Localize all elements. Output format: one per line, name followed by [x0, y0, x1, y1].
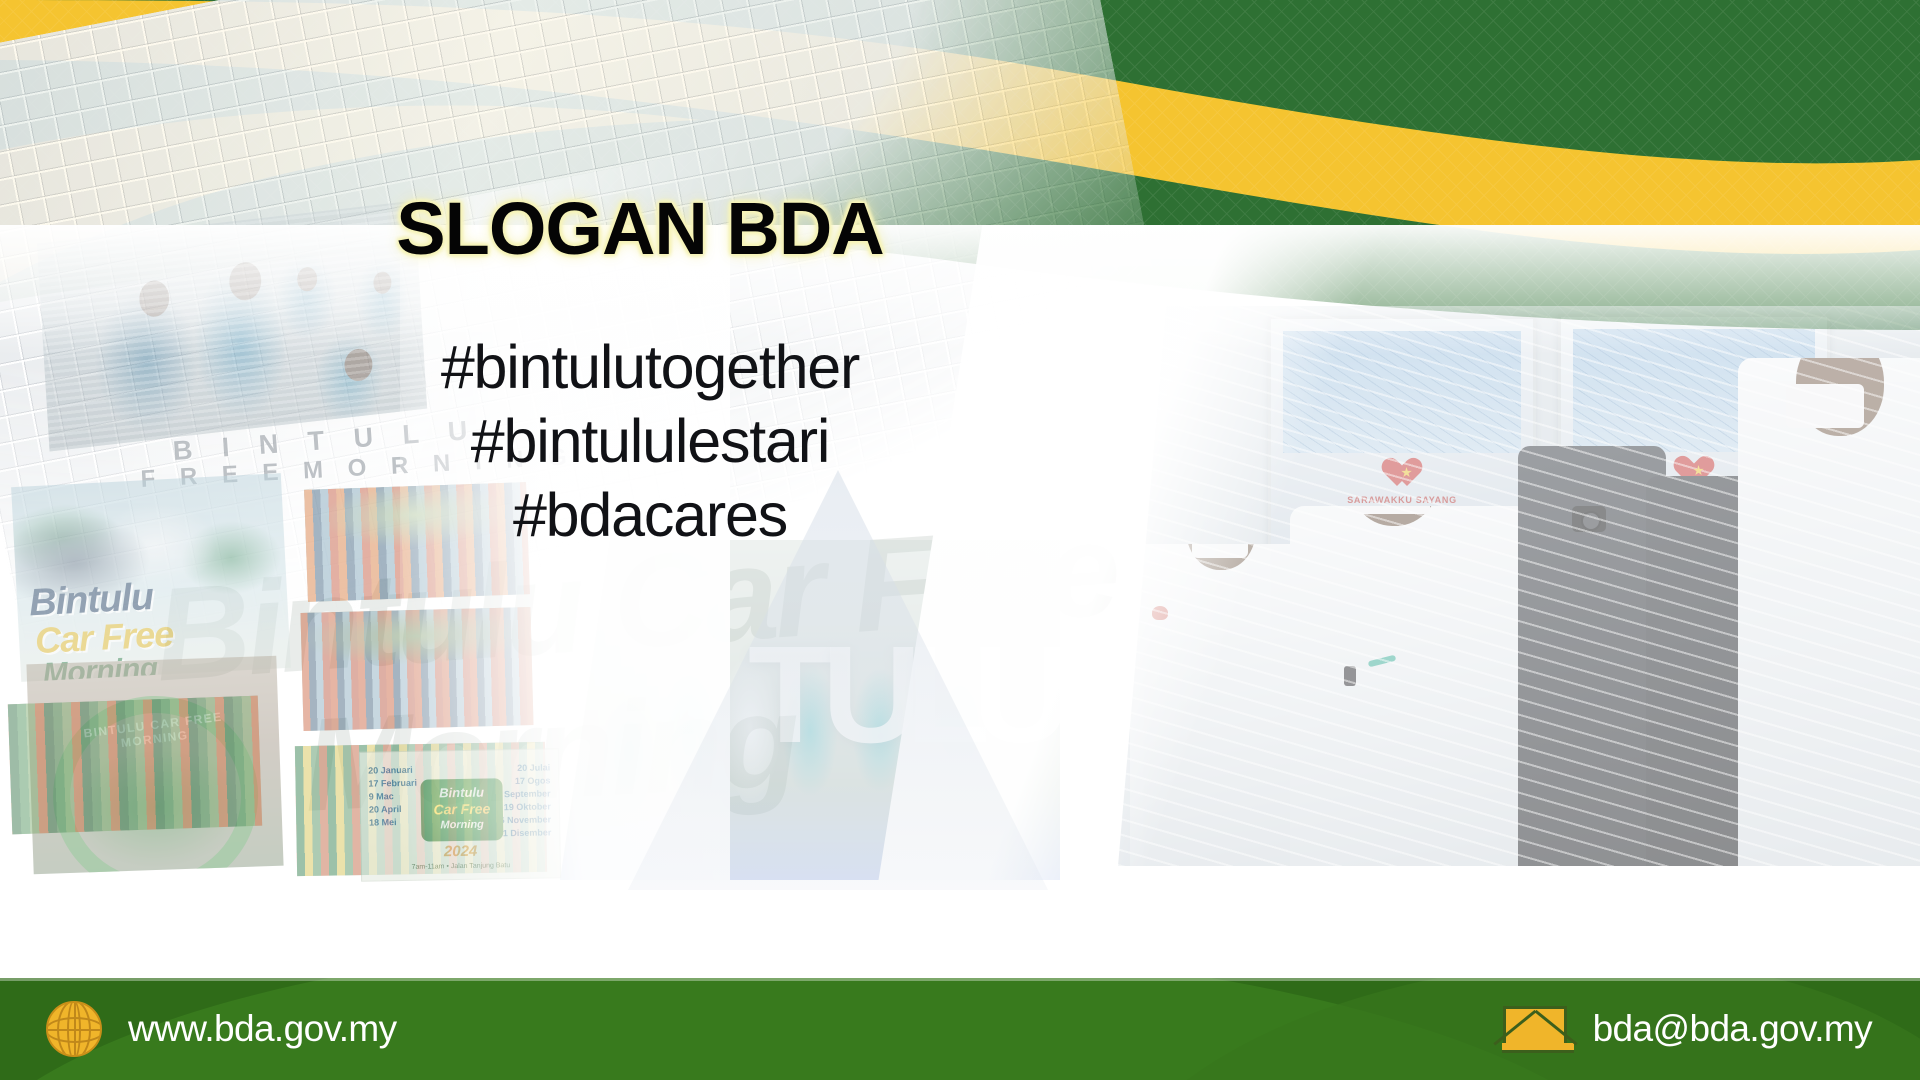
date-item: 17 Februari: [368, 778, 417, 789]
uniform-shirt: [1290, 506, 1530, 866]
footer-website-group[interactable]: www.bda.gov.my: [46, 978, 397, 1080]
date-item: 17 Ogos: [515, 775, 551, 786]
person-official: [1130, 544, 1312, 866]
date-item: 18 Mei: [369, 817, 397, 827]
envelope-icon: [1503, 1006, 1567, 1052]
photo-ladies-with-bintulu-letters: T U L U: [560, 540, 1060, 880]
slogan-hashtag-list: #bintulutogether #bintululestari #bdacar…: [0, 330, 1300, 552]
panel-diagram: [1283, 331, 1521, 453]
panel-caption: SARAWAKKU SAYANG: [1271, 495, 1533, 505]
badge-line-bintulu: Bintulu: [420, 784, 502, 800]
dates-poster-badge: Bintulu Car Free Morning: [420, 778, 503, 841]
heart-logo-icon: [1389, 459, 1423, 489]
dates-column-left: 20 Januari 17 Februari 9 Mac 20 April 18…: [368, 764, 418, 830]
globe-icon: [46, 1001, 102, 1057]
hashtag-bdacares: #bdacares: [0, 478, 1300, 552]
person-official: [1290, 506, 1530, 866]
date-item: 21 Disember: [498, 827, 552, 838]
footer-email-group[interactable]: bda@bda.gov.my: [1503, 978, 1872, 1080]
poster-event-dates: 20 Januari 17 Februari 9 Mac 20 April 18…: [359, 748, 561, 881]
poster-canvas: B I N T U L U F R E E M O R N I N G Bint…: [0, 0, 1920, 1080]
hashtag-bintulutogether: #bintulutogether: [0, 330, 1300, 404]
email-address[interactable]: bda@bda.gov.my: [1593, 1008, 1872, 1050]
page-title: SLOGAN BDA: [0, 186, 1280, 271]
date-item: 20 April: [369, 804, 402, 815]
face-mask: [1352, 506, 1430, 514]
date-item: 19 Oktober: [504, 801, 551, 812]
star-icon: [1401, 467, 1412, 478]
sculpture-letter: U: [972, 626, 1060, 764]
date-item: 20 Julai: [517, 762, 550, 773]
envelope-bottom-mask: [1502, 1043, 1574, 1053]
dates-poster-year: 2024: [362, 841, 560, 861]
person-photographer: [1518, 446, 1666, 866]
sculpture-letter: T: [748, 626, 832, 764]
person-official: [1738, 358, 1920, 866]
runner-head: [373, 270, 392, 294]
date-item: 20 Januari: [368, 765, 413, 776]
hashtag-bintululestari: #bintululestari: [0, 404, 1300, 478]
uniform-crest-icon: [1152, 606, 1168, 620]
camera-icon: [1572, 506, 1606, 532]
date-item: 9 Mac: [369, 791, 394, 801]
globe-parallel: [46, 1017, 102, 1043]
runner-head: [138, 279, 170, 318]
star-icon: [1693, 465, 1704, 476]
uniform-shirt: [1130, 544, 1312, 866]
footer-contact-bar: www.bda.gov.my bda@bda.gov.my: [0, 978, 1920, 1080]
website-url[interactable]: www.bda.gov.my: [128, 1008, 397, 1050]
id-badge: [1344, 666, 1356, 686]
face-mask: [1786, 384, 1864, 428]
badge-line-car-free: Car Free: [421, 800, 503, 817]
photo-group-participants: [8, 696, 262, 835]
photo-group-participants: [300, 607, 533, 731]
badge-line-morning: Morning: [421, 818, 503, 831]
dates-poster-footnote: 7am-11am • Jalan Tanjung Batu: [362, 861, 560, 871]
globe-meridian: [67, 1001, 81, 1057]
